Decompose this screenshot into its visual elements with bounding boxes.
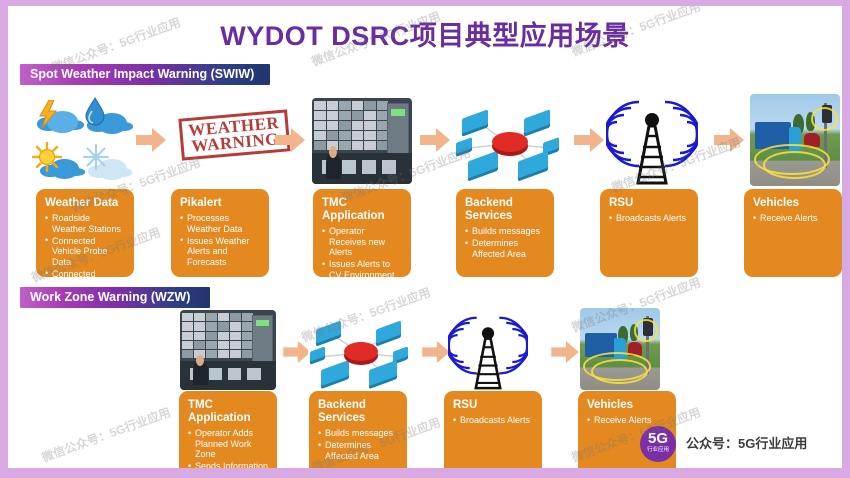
flow-arrow-icon [422,341,450,363]
water-drop-icon [84,97,106,127]
box-bullets: Builds messages Determines Affected Area [465,226,546,259]
box-bullets: Operator Receives new Alerts Issues Aler… [322,226,403,277]
flow-arrow-icon [420,128,450,152]
flow-arrow-icon [714,128,744,152]
box-title: Pikalert [180,197,261,210]
weather-icons [32,94,128,186]
flow-arrow-icon [574,128,604,152]
thunder-cloud-icon [32,94,80,140]
bullet-item: Broadcasts Alerts [453,415,534,426]
bullet-item: Connected Vehicle Probe Data [45,236,126,268]
flow-arrow-icon [283,341,311,363]
bullet-item: Determines Affected Area [318,440,399,461]
snow-cloud-icon [80,140,128,186]
brand-badge: 5G 行业应用 [640,426,676,462]
bullet-item: Receive Alerts [587,415,668,426]
box-title: RSU [609,197,690,210]
bullet-item: Receive Alerts [753,213,834,224]
process-box-tmc-application-wzw[interactable]: TMC Application Operator Adds Planned Wo… [179,391,277,468]
bullet-item: Operator Receives new Alerts [322,226,403,258]
bullet-item: Connected Vehicle CAN Data [45,269,126,278]
box-bullets: Broadcasts Alerts [609,213,690,224]
lightning-bolt-icon [38,100,58,128]
snowflake-icon [83,144,109,170]
radio-tower-icon [606,90,698,186]
slide-canvas: WYDOT DSRC项目典型应用场景 Spot Weather Impact W… [8,6,842,468]
box-bullets: Receive Alerts [753,213,834,224]
bullet-item: Broadcasts Alerts [609,213,690,224]
weather-warning-stamp: WEATHER WARNING [178,109,290,160]
sun-icon [32,142,62,172]
bullet-item: Operator Adds Planned Work Zone [188,428,269,460]
process-box-vehicles[interactable]: Vehicles Receive Alerts [744,189,842,277]
process-box-pikalert[interactable]: Pikalert Processes Weather Data Issues W… [171,189,269,277]
box-bullets: Receive Alerts [587,415,668,426]
network-topology-icon [454,96,564,186]
process-box-rsu-wzw[interactable]: RSU Broadcasts Alerts [444,391,542,468]
bullet-item: Roadside Weather Stations [45,213,126,234]
bullet-item: Sends Information to System [188,461,269,468]
bullet-item: Builds messages [465,226,546,237]
box-title: RSU [453,399,534,412]
control-room-photo [180,310,276,390]
flow-arrow-icon [551,341,579,363]
process-box-rsu[interactable]: RSU Broadcasts Alerts [600,189,698,277]
box-bullets: Roadside Weather Stations Connected Vehi… [45,213,126,277]
bullet-item: Determines Affected Area [465,238,546,259]
box-title: TMC Application [322,197,403,223]
flow-arrow-icon [275,128,305,152]
box-bullets: Broadcasts Alerts [453,415,534,426]
radio-tower-icon [448,306,528,392]
video-wall [314,101,388,149]
box-title: Backend Services [465,197,546,223]
badge-5g-label: 5G [640,426,676,447]
sunny-cloud-icon [32,140,80,186]
highway-vehicles-photo [750,94,840,186]
process-box-backend-services[interactable]: Backend Services Builds messages Determi… [456,189,554,277]
bullet-item: Issues Weather Alerts and Forecasts [180,236,261,268]
box-title: Vehicles [753,197,834,210]
badge-sub-label: 行业应用 [640,447,676,454]
box-title: Vehicles [587,399,668,412]
network-topology-icon [308,311,412,391]
equipment-cabinet [387,103,409,155]
video-wall [182,313,253,358]
brand-text: 公众号：5G行业应用 [686,433,807,452]
box-title: Weather Data [45,197,126,210]
page-title: WYDOT DSRC项目典型应用场景 [8,14,842,53]
bullet-item: Issues Alerts to CV Environment [322,259,403,277]
section-banner-wzw: Work Zone Warning (WZW) [20,287,210,308]
section-banner-swiw: Spot Weather Impact Warning (SWIW) [20,64,270,85]
control-room-photo [312,98,412,184]
bullet-item: Builds messages [318,428,399,439]
highway-vehicles-photo [580,308,660,390]
box-bullets: Processes Weather Data Issues Weather Al… [180,213,261,267]
process-box-weather-data[interactable]: Weather Data Roadside Weather Stations C… [36,189,134,277]
process-box-backend-services-wzw[interactable]: Backend Services Builds messages Determi… [309,391,407,468]
flow-arrow-icon [136,128,166,152]
box-bullets: Builds messages Determines Affected Area [318,428,399,461]
box-bullets: Operator Adds Planned Work Zone Sends In… [188,428,269,468]
box-title: Backend Services [318,399,399,425]
equipment-cabinet [252,315,273,363]
watermark: 微信公众号：5G行业应用 [39,403,173,465]
process-box-tmc-application[interactable]: TMC Application Operator Receives new Al… [313,189,411,277]
bullet-item: Processes Weather Data [180,213,261,234]
rain-drop-cloud-icon [80,94,128,140]
box-title: TMC Application [188,399,269,425]
